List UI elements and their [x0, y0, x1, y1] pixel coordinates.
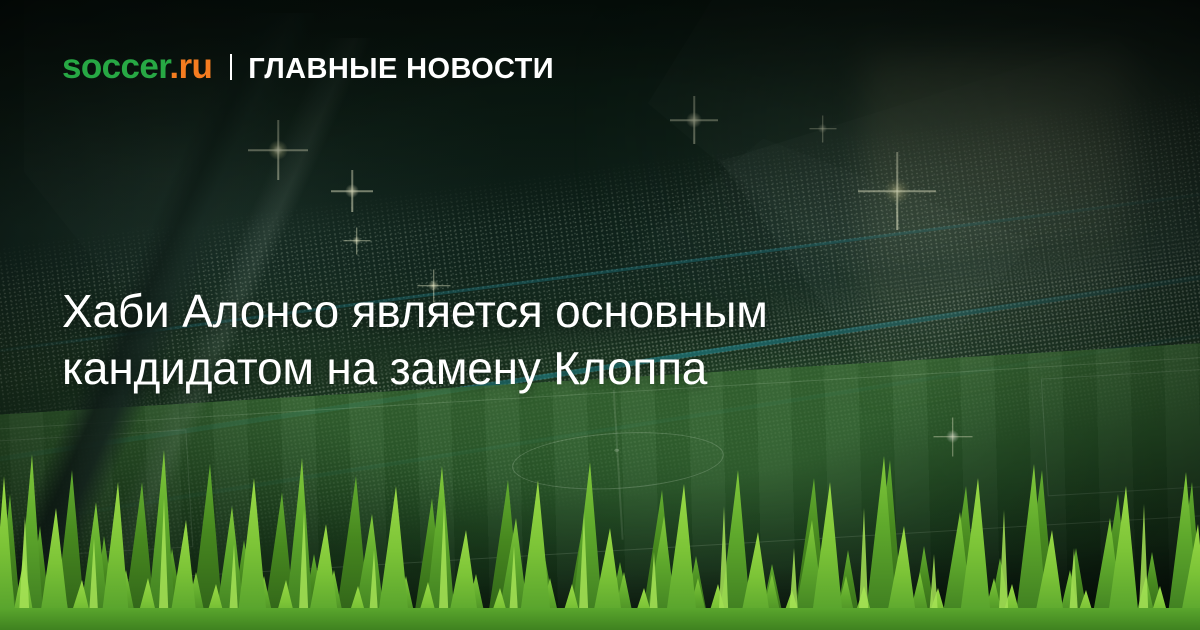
header-separator: [230, 54, 232, 80]
headline-line-1: Хаби Алонсо является основным: [62, 283, 1062, 341]
brand-header: soccer.ru ГЛАВНЫЕ НОВОСТИ: [62, 49, 554, 84]
headline-line-2: кандидатом на замену Клоппа: [62, 340, 1062, 398]
logo-tld: ru: [178, 47, 212, 86]
site-logo[interactable]: soccer.ru: [62, 49, 212, 84]
grass-foreground: [0, 420, 1200, 630]
section-kicker: ГЛАВНЫЕ НОВОСТИ: [248, 55, 554, 84]
page-title: Хаби Алонсо является основным кандидатом…: [62, 283, 1062, 398]
logo-word: soccer: [62, 47, 169, 86]
news-share-card: soccer.ru ГЛАВНЫЕ НОВОСТИ Хаби Алонсо яв…: [0, 0, 1200, 630]
